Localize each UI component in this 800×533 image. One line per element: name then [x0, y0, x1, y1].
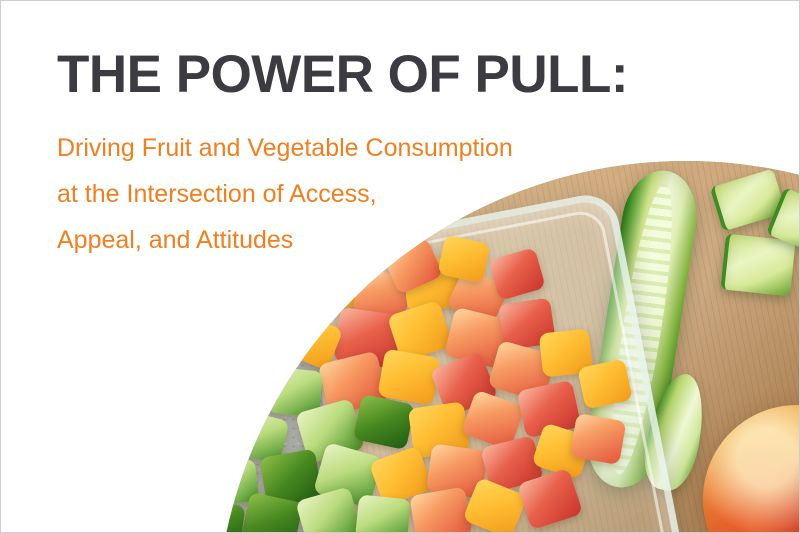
produce-chunk: [570, 413, 627, 465]
produce-chunk: [355, 494, 411, 533]
subtitle-line-1: Driving Fruit and Vegetable Consumption: [57, 125, 717, 171]
report-cover-card: THE POWER OF PULL: Driving Fruit and Veg…: [0, 0, 800, 533]
subtitle-line-2: at the Intersection of Access,: [57, 171, 717, 217]
produce-chunk: [409, 487, 472, 533]
cover-text-block: THE POWER OF PULL: Driving Fruit and Veg…: [57, 47, 717, 263]
cucumber-chunk: [720, 233, 795, 296]
subtitle-line-3: Appeal, and Attitudes: [57, 217, 717, 263]
produce-chunk: [196, 500, 245, 533]
page-title: THE POWER OF PULL:: [57, 47, 717, 103]
